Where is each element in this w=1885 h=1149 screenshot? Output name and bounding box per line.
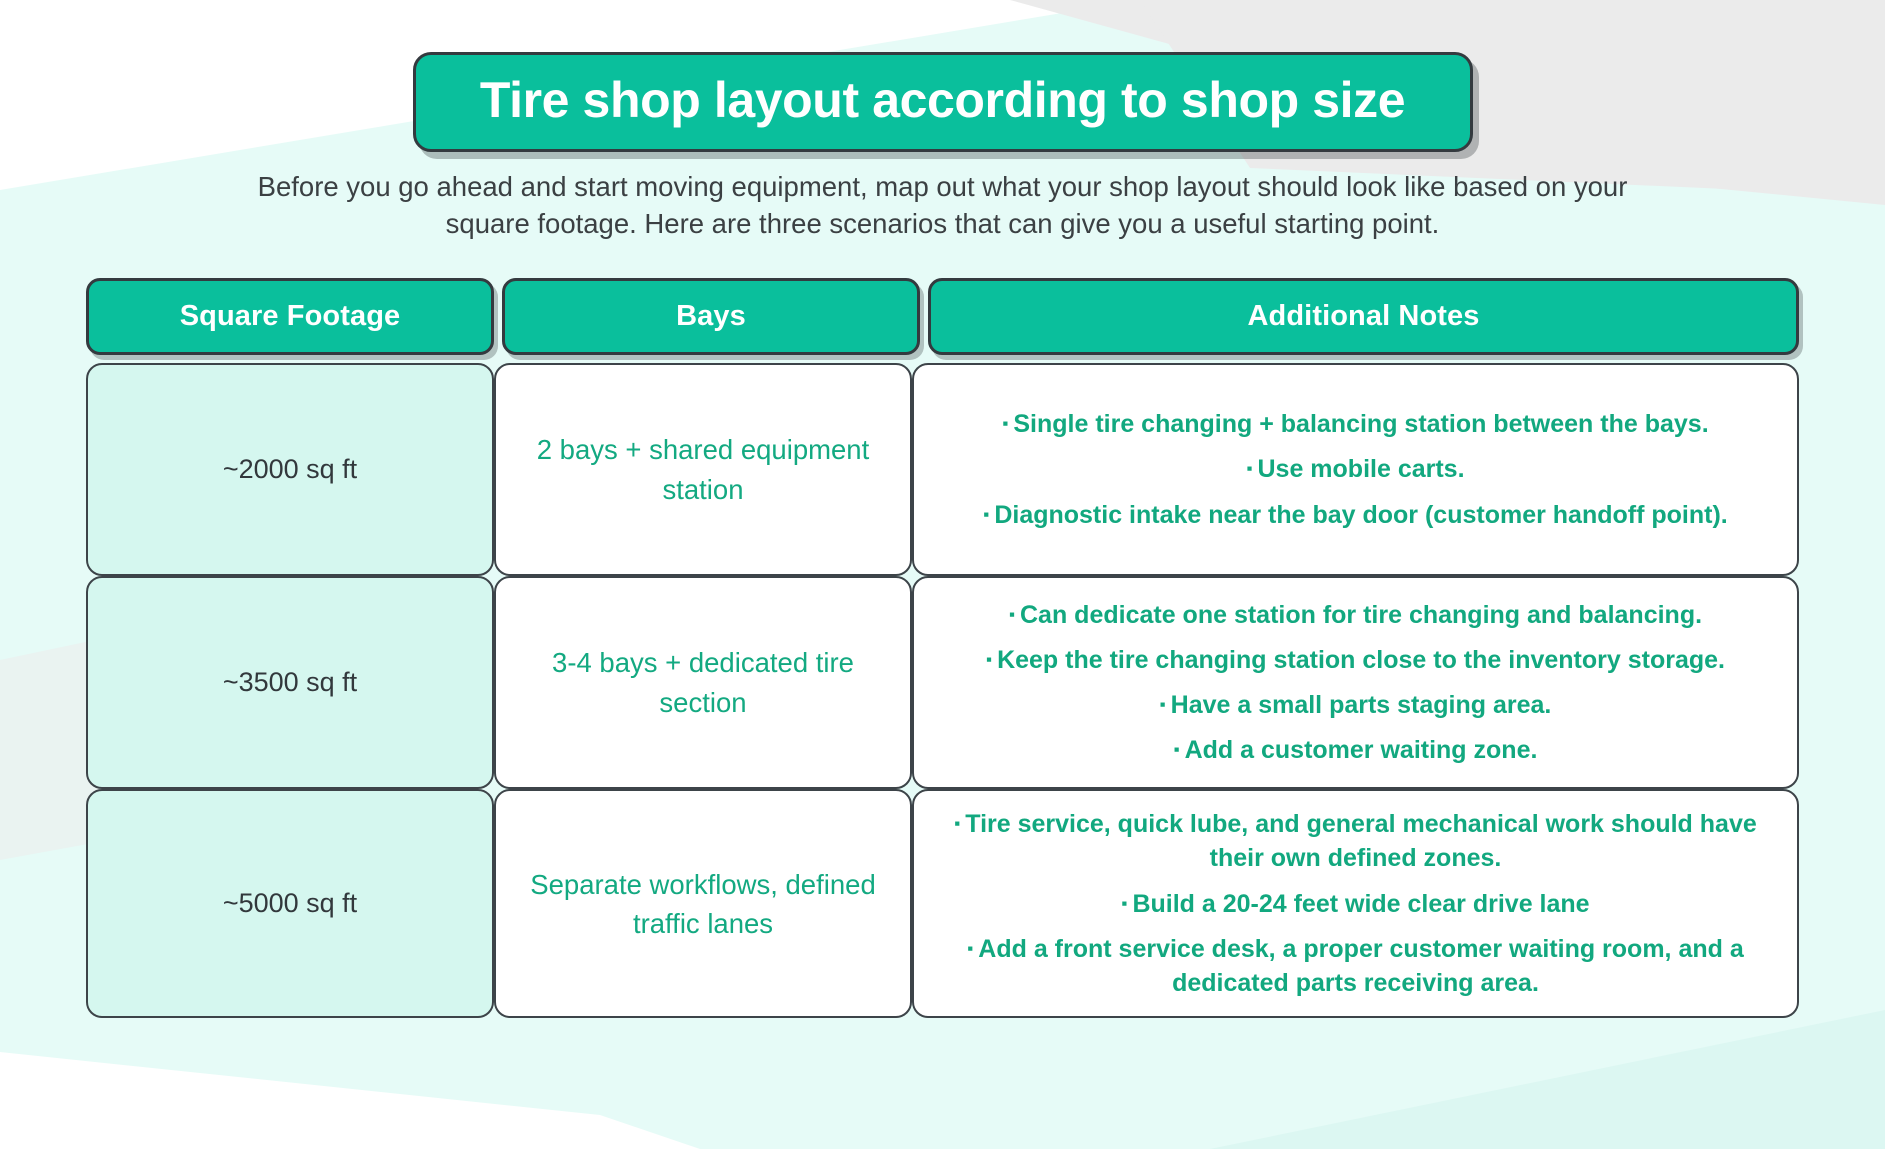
note-item: ▪Can dedicate one station for tire chang… [938, 598, 1773, 632]
page-subtitle: Before you go ahead and start moving equ… [233, 168, 1653, 243]
bullet-square-icon: ▪ [1174, 740, 1180, 759]
cell-square-footage: ~2000 sq ft [86, 363, 494, 576]
bullet-square-icon: ▪ [1009, 605, 1015, 624]
cell-square-footage: ~5000 sq ft [86, 789, 494, 1018]
bullet-square-icon: ▪ [967, 939, 973, 958]
table-row: ~2000 sq ft 2 bays + shared equipment st… [86, 363, 1799, 576]
cell-additional-notes: ▪Tire service, quick lube, and general m… [912, 789, 1799, 1018]
notes-list: ▪Tire service, quick lube, and general m… [938, 807, 1773, 1000]
column-header-additional-notes: Additional Notes [928, 278, 1799, 355]
cell-bays: Separate workflows, defined traffic lane… [494, 789, 912, 1018]
cell-additional-notes: ▪Can dedicate one station for tire chang… [912, 576, 1799, 789]
cell-square-footage: ~3500 sq ft [86, 576, 494, 789]
note-text: Add a customer waiting zone. [1185, 736, 1538, 764]
note-item: ▪Add a customer waiting zone. [938, 733, 1773, 767]
note-text: Single tire changing + balancing station… [1013, 410, 1708, 438]
column-header-square-footage: Square Footage [86, 278, 494, 355]
bullet-square-icon: ▪ [1121, 894, 1127, 913]
bullet-square-icon: ▪ [986, 650, 992, 669]
title-card: Tire shop layout according to shop size [413, 52, 1473, 152]
title-container: Tire shop layout according to shop size [0, 52, 1885, 152]
bullet-square-icon: ▪ [983, 505, 989, 524]
table-row: ~5000 sq ft Separate workflows, defined … [86, 789, 1799, 1018]
note-text: Diagnostic intake near the bay door (cus… [994, 501, 1727, 529]
layout-table: Square Footage Bays Additional Notes ~20… [86, 278, 1799, 1018]
note-item: ▪Tire service, quick lube, and general m… [938, 807, 1773, 876]
note-item: ▪Keep the tire changing station close to… [938, 643, 1773, 677]
note-item: ▪Single tire changing + balancing statio… [938, 407, 1773, 441]
table-row: ~3500 sq ft 3-4 bays + dedicated tire se… [86, 576, 1799, 789]
bullet-square-icon: ▪ [1002, 414, 1008, 433]
bullet-square-icon: ▪ [1160, 695, 1166, 714]
note-text: Build a 20-24 feet wide clear drive lane [1132, 890, 1589, 918]
note-text: Have a small parts staging area. [1171, 691, 1552, 719]
bullet-square-icon: ▪ [1246, 459, 1252, 478]
note-text: Tire service, quick lube, and general me… [965, 810, 1757, 872]
cell-bays: 2 bays + shared equipment station [494, 363, 912, 576]
table-header-row: Square Footage Bays Additional Notes [86, 278, 1799, 355]
cell-bays: 3-4 bays + dedicated tire section [494, 576, 912, 789]
bullet-square-icon: ▪ [954, 814, 960, 833]
note-text: Keep the tire changing station close to … [997, 646, 1725, 674]
note-text: Use mobile carts. [1258, 455, 1465, 483]
note-item: ▪Build a 20-24 feet wide clear drive lan… [938, 887, 1773, 921]
note-item: ▪Use mobile carts. [938, 452, 1773, 486]
note-text: Can dedicate one station for tire changi… [1020, 601, 1702, 629]
note-text: Add a front service desk, a proper custo… [978, 935, 1743, 997]
column-header-bays: Bays [502, 278, 920, 355]
notes-list: ▪Single tire changing + balancing statio… [938, 407, 1773, 532]
note-item: ▪Have a small parts staging area. [938, 688, 1773, 722]
notes-list: ▪Can dedicate one station for tire chang… [938, 598, 1773, 768]
cell-additional-notes: ▪Single tire changing + balancing statio… [912, 363, 1799, 576]
note-item: ▪Diagnostic intake near the bay door (cu… [938, 498, 1773, 532]
infographic-root: Tire shop layout according to shop size … [0, 0, 1885, 1149]
page-title: Tire shop layout according to shop size [472, 72, 1414, 128]
note-item: ▪Add a front service desk, a proper cust… [938, 932, 1773, 1001]
